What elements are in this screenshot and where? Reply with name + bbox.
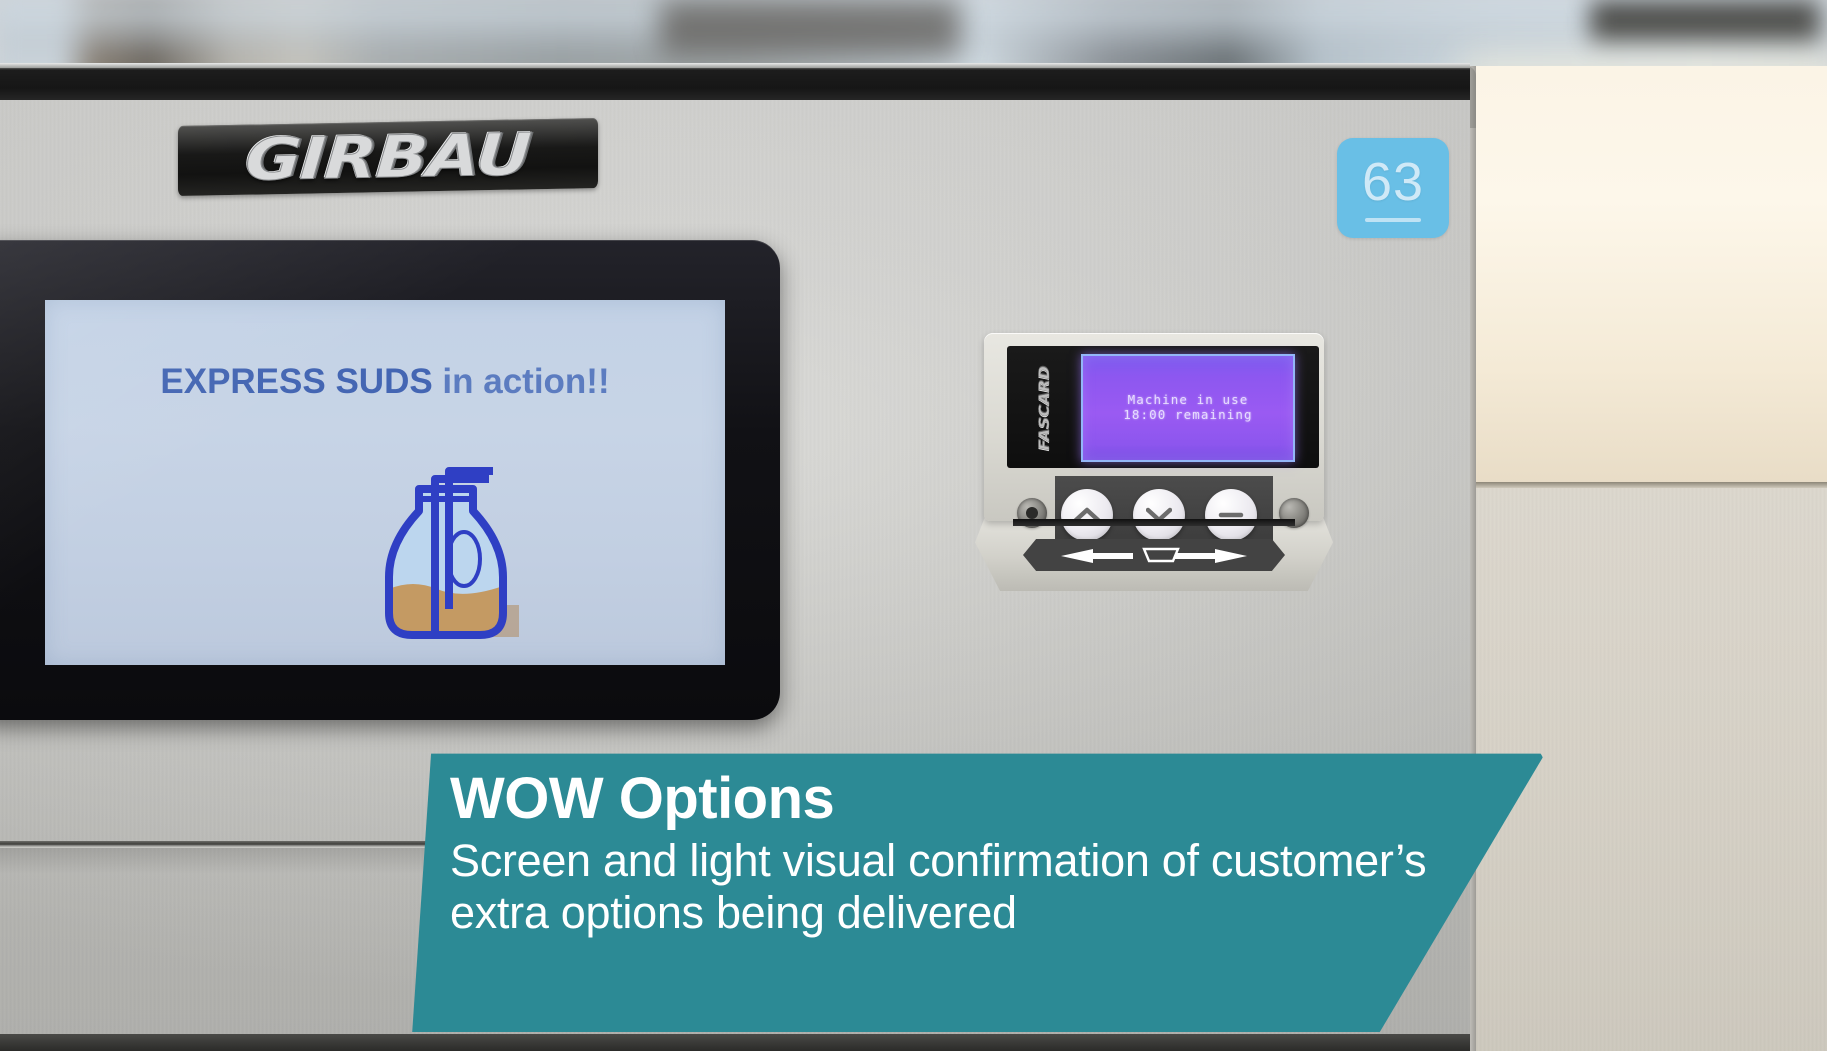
background-dark-shape-left <box>660 0 960 55</box>
touchscreen-message-bold: EXPRESS SUDS <box>160 362 432 401</box>
fascard-housing: FASCARD FASCARD Machine in use 18:00 rem… <box>984 333 1324 521</box>
machine-top-rail <box>0 63 1470 105</box>
swipe-card-icon <box>1059 545 1249 565</box>
caption-subtitle: Screen and light visual confirmation of … <box>450 835 1460 939</box>
screenshot-root: GIRBAU 63 EXPRESS SUDS in action!! <box>0 0 1827 1051</box>
top-rail-highlight <box>0 63 1470 68</box>
machine-number-value: 63 <box>1362 155 1424 209</box>
caption-content: WOW Options Screen and light visual conf… <box>365 742 1545 1032</box>
machine-number-badge: 63 <box>1337 138 1449 238</box>
fascard-brand-left-label: FASCARD <box>1037 366 1053 451</box>
fascard-swipe-indicator <box>1023 539 1285 571</box>
fascard-lcd-text: Machine in use 18:00 remaining <box>1083 392 1293 422</box>
fascard-up-button[interactable] <box>1061 489 1113 541</box>
detergent-bottle-icon <box>367 455 547 650</box>
illuminated-light-panel <box>1470 66 1827 486</box>
panel-seam-lower <box>0 1034 1470 1051</box>
girbau-brand-label: GIRBAU <box>244 125 532 189</box>
fascard-down-button[interactable] <box>1133 489 1185 541</box>
fascard-lcd-screen: Machine in use 18:00 remaining <box>1081 354 1295 462</box>
fascard-card-slot[interactable] <box>1013 519 1295 526</box>
touchscreen-message-rest: in action!! <box>433 362 610 401</box>
touchscreen-display[interactable]: EXPRESS SUDS in action!! <box>45 300 725 665</box>
fascard-minus-button[interactable] <box>1205 489 1257 541</box>
caption-title: WOW Options <box>450 768 1545 831</box>
touchscreen-message: EXPRESS SUDS in action!! <box>45 362 725 402</box>
fascard-lcd-line-1: Machine in use <box>1083 392 1293 407</box>
machine-number-underline <box>1365 218 1421 222</box>
fascard-brand-left: FASCARD <box>1033 362 1057 454</box>
fascard-lcd-line-2: 18:00 remaining <box>1083 407 1293 422</box>
fascard-reader: FASCARD FASCARD Machine in use 18:00 rem… <box>975 333 1333 633</box>
fascard-faceplate: FASCARD FASCARD Machine in use 18:00 rem… <box>1007 346 1319 468</box>
background-dark-shape-right <box>1590 0 1820 42</box>
girbau-brand-badge: GIRBAU <box>178 118 598 196</box>
